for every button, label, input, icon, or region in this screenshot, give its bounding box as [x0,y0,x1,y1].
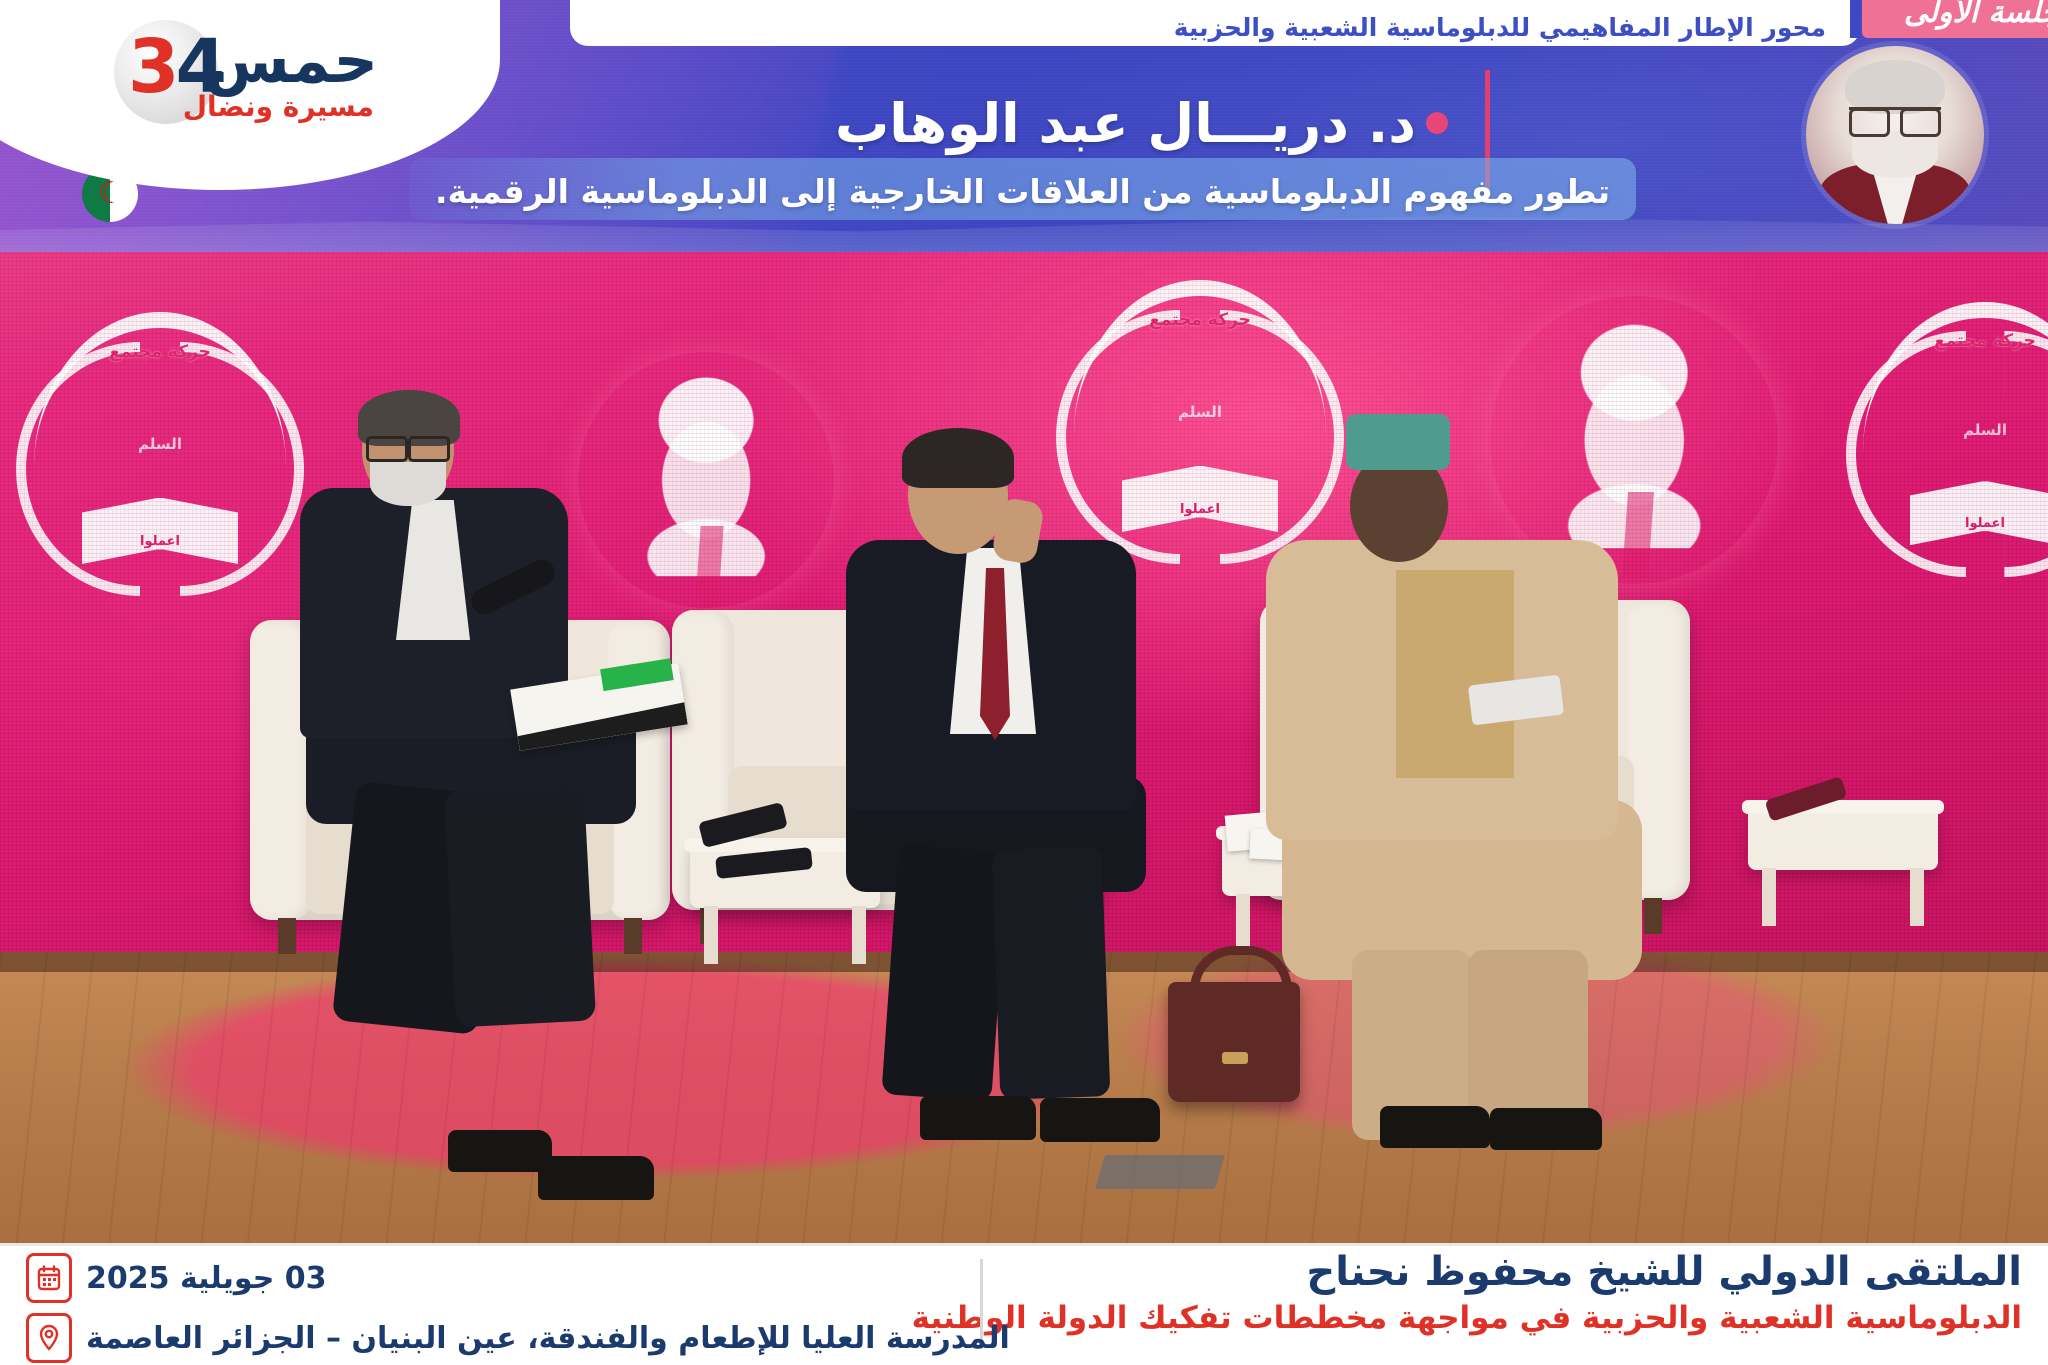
notebook-marker [600,658,674,691]
panelist-shoe [448,1130,552,1172]
speaker-name: د. دريـــال عبد الوهاب [835,92,1416,155]
logo-wordmark: حمس [204,30,378,92]
emblem-book-text: اعملوا [10,534,310,549]
msp-emblem: حركة مجتمع السلم اعملوا [10,300,310,600]
side-table-leg [1910,868,1924,926]
event-footer: الملتقى الدولي للشيخ محفوظ نحناح الدبلوم… [0,1243,2048,1365]
footer-event-block: الملتقى الدولي للشيخ محفوظ نحناح الدبلوم… [912,1249,2022,1337]
calendar-icon [26,1253,72,1303]
conference-photo-screenshot: حركة مجتمع السلم اعملوا حركة مجتمع السلم… [0,0,2048,1365]
event-date: 03 جويلية 2025 [86,1261,327,1296]
panelist-beard [370,462,446,506]
emblem-mid-text: السلم [1050,403,1350,421]
talk-title-pill: تطور مفهوم الدبلوماسية من العلاقات الخار… [409,158,1636,220]
panelist-shoe [1040,1098,1160,1142]
panelist-shoe [920,1096,1036,1140]
event-subtitle: الدبلوماسية الشعبية والحزبية في مواجهة م… [912,1300,2022,1337]
event-venue: المدرسة العليا للإطعام والفندقة، عين الب… [86,1321,1010,1356]
bullet-dot-icon [1426,112,1448,134]
panelist-leg [881,844,1008,1101]
session-badge-label: الجلسة الأولى [1904,0,2048,30]
footer-top-border [0,1243,2048,1246]
avatar-beard [1852,131,1937,177]
panelist-left [300,396,700,956]
panelist-shoe [538,1156,654,1200]
emblem-book-text: اعملوا [1840,516,2048,531]
logo-tagline: مسيرة ونضال [183,90,374,123]
floor-cable-plate [1095,1155,1225,1189]
theme-label: محور الإطار المفاهيمي للدبلوماسية الشعبي… [1174,13,1826,42]
hms-logo: 34 حمس مسيرة ونضال [88,12,378,132]
panelist-hair [902,428,1014,488]
logo-digit-3: 3 [128,24,176,110]
emblem-mid-text: السلم [1840,421,2048,439]
emblem-arc-text: حركة مجتمع [1050,310,1350,330]
panelist-leg [444,784,596,1027]
avatar-glasses-icon [1849,107,1942,133]
panelist-shoe [1490,1108,1602,1150]
theme-strip: محور الإطار المفاهيمي للدبلوماسية الشعبي… [570,0,1860,46]
session-badge-bar [1850,0,1861,38]
msp-emblem: حركة مجتمع السلم اعملوا [1840,290,2048,580]
event-title: الملتقى الدولي للشيخ محفوظ نحناح [912,1249,2022,1296]
footer-date-row: 03 جويلية 2025 [26,1253,1010,1303]
armchair-leg [278,918,296,954]
crescent-star-glyph: ☾ [98,179,125,209]
side-table-leg [704,906,718,964]
traditional-cap [1346,414,1450,470]
emblem-mid-text: السلم [10,435,310,453]
emblem-arc-text: حركة مجتمع [1840,331,2048,351]
stage-area: حركة مجتمع السلم اعملوا حركة مجتمع السلم… [0,0,2048,1243]
emblem-arc-text: حركة مجتمع [10,342,310,362]
session-banner: محور الإطار المفاهيمي للدبلوماسية الشعبي… [0,0,2048,252]
briefcase-clasp [1222,1052,1248,1064]
footer-venue-row: المدرسة العليا للإطعام والفندقة، عين الب… [26,1313,1010,1363]
side-table-leg [1762,868,1776,926]
panelist-leg [992,846,1111,1100]
eyeglasses-icon [364,436,452,456]
panelist-scarf [1396,570,1514,778]
leather-briefcase [1168,982,1300,1102]
session-badge: الجلسة الأولى [1862,0,2048,38]
map-pin-icon [26,1313,72,1363]
panelist-right [1292,420,1712,1020]
talk-title: تطور مفهوم الدبلوماسية من العلاقات الخار… [435,172,1610,211]
panelist-shoe [1380,1106,1490,1148]
panelist-center [846,436,1246,1016]
speaker-avatar [1806,46,1984,224]
footer-details-block: 03 جويلية 2025 المدرس [26,1253,1010,1365]
